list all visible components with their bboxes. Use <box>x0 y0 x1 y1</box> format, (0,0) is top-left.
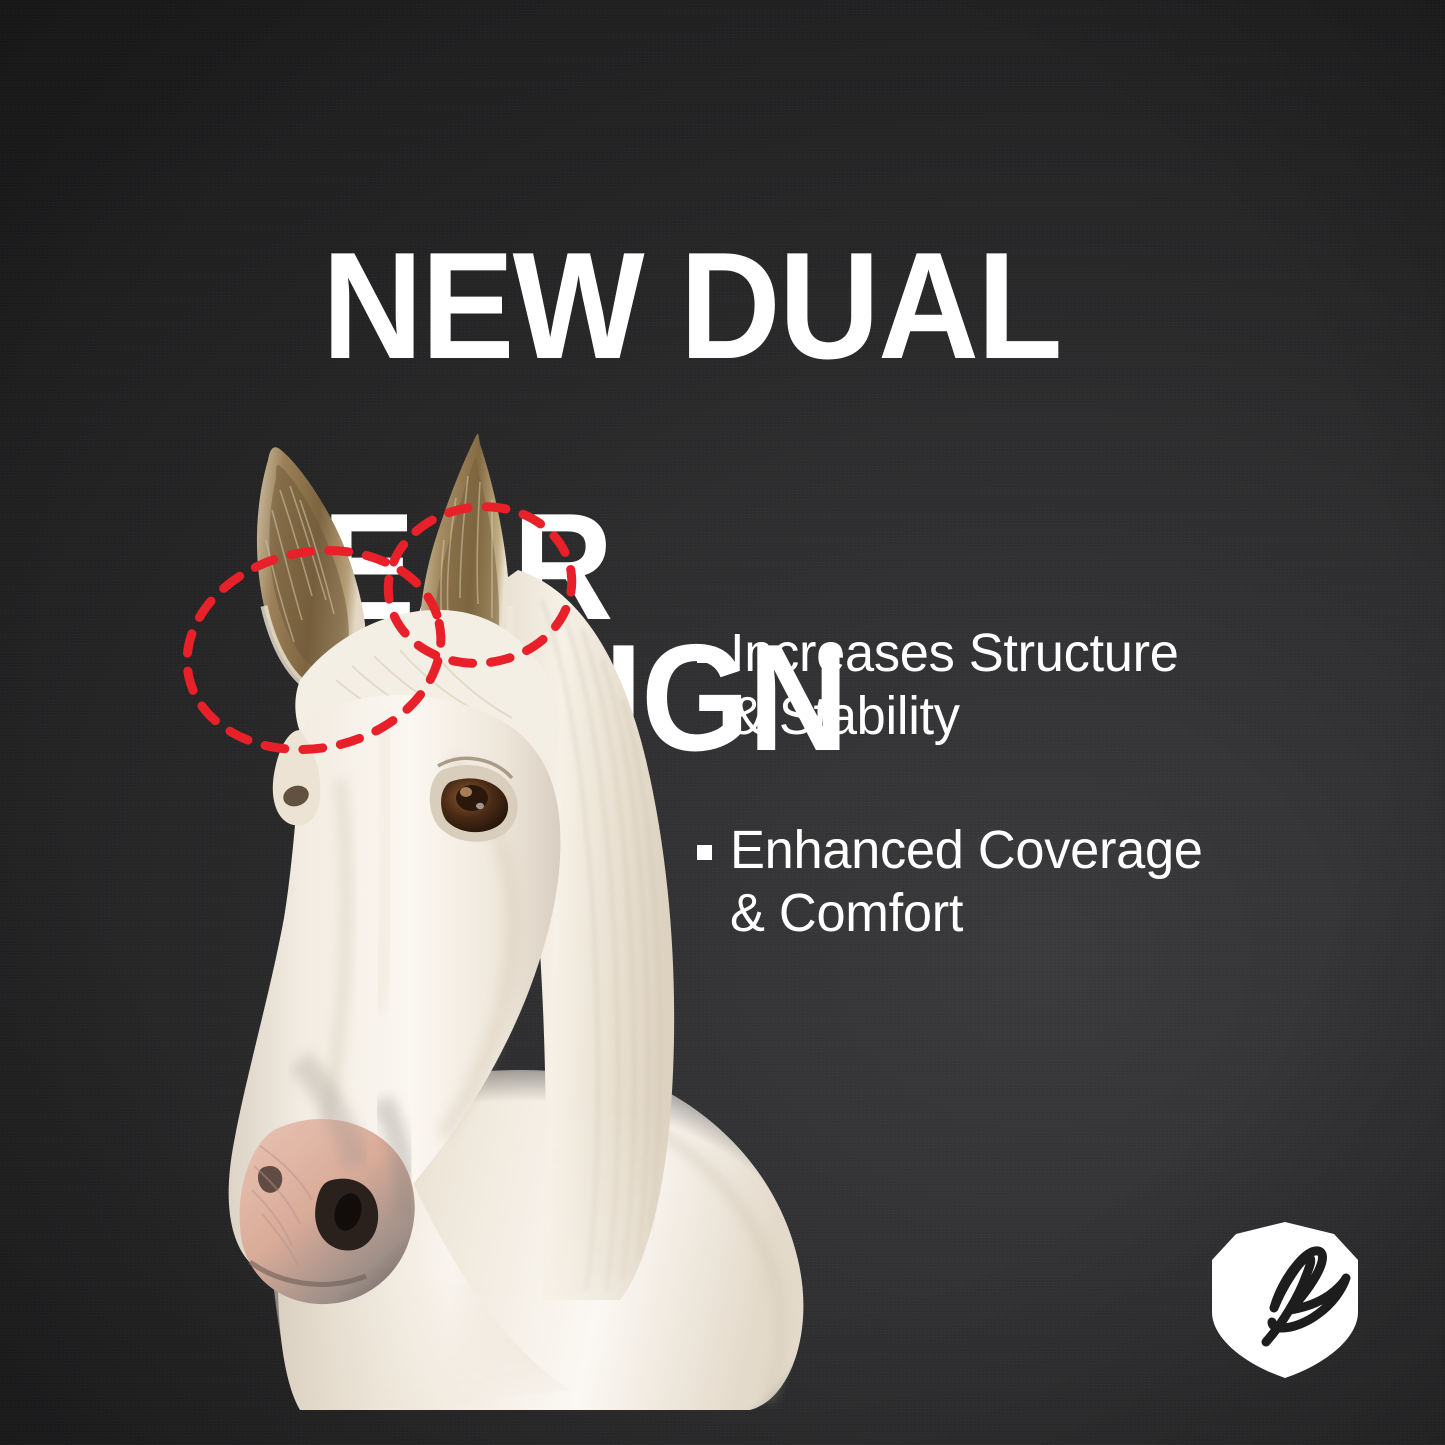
headline-line-1: NEW DUAL <box>322 241 1150 372</box>
horse-eye <box>430 758 518 841</box>
list-item: Enhanced Coverage & Comfort <box>697 819 1377 944</box>
feature-text: Enhanced Coverage & Comfort <box>730 819 1203 944</box>
feature-list: Increases Structure & Stability Enhanced… <box>697 622 1377 945</box>
square-bullet-icon <box>697 845 712 860</box>
square-bullet-icon <box>697 648 712 663</box>
list-item: Increases Structure & Stability <box>697 622 1377 747</box>
brand-logo <box>1206 1220 1364 1380</box>
shield-k-icon <box>1206 1220 1364 1380</box>
poster-canvas: NEW DUAL EAR DESIGN <box>0 0 1445 1445</box>
feature-text: Increases Structure & Stability <box>730 622 1179 747</box>
